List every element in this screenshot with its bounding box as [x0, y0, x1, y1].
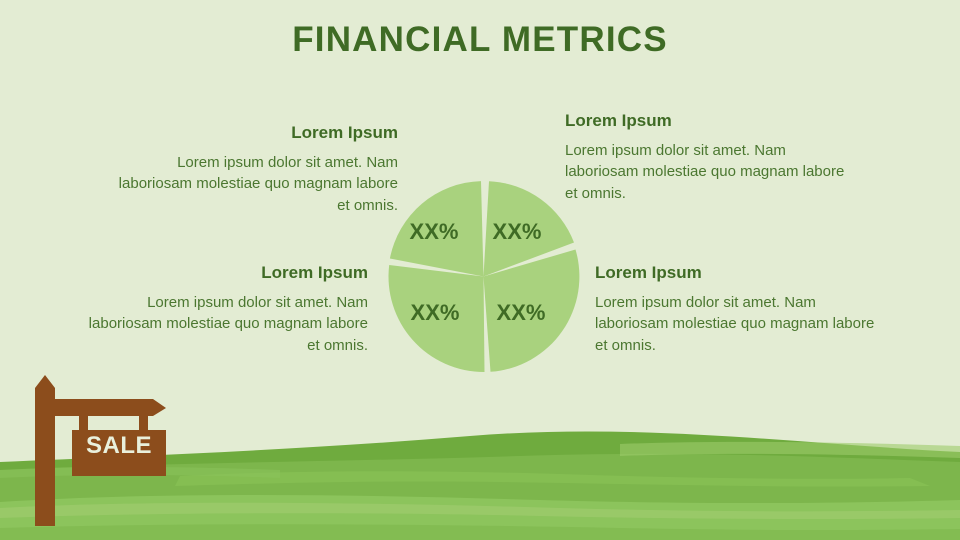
pie-slice-label-4: XX%	[411, 300, 460, 326]
pie-chart: XX% XX% XX% XX%	[383, 175, 587, 379]
slide-canvas: FINANCIAL METRICS XX% XX% XX% XX% Lorem …	[0, 0, 960, 540]
pie-slice-label-3: XX%	[497, 300, 546, 326]
callout-top-right-heading: Lorem Ipsum	[565, 112, 845, 131]
callout-top-left: Lorem Ipsum Lorem ipsum dolor sit amet. …	[118, 124, 398, 217]
page-title: FINANCIAL METRICS	[0, 20, 960, 60]
callout-bottom-left-body: Lorem ipsum dolor sit amet. Nam laborios…	[88, 292, 368, 357]
callout-bottom-right-heading: Lorem Ipsum	[595, 264, 875, 283]
sign-post	[35, 375, 55, 526]
grass-highlight-right	[620, 442, 960, 458]
pie-chart-svg	[383, 175, 587, 379]
callout-bottom-left: Lorem Ipsum Lorem ipsum dolor sit amet. …	[88, 264, 368, 357]
callout-bottom-right-body: Lorem ipsum dolor sit amet. Nam laborios…	[595, 292, 875, 357]
sign-strap-left	[79, 416, 88, 432]
pie-slices	[389, 181, 580, 372]
pie-slice-label-2: XX%	[493, 219, 542, 245]
sign-arrow	[55, 399, 166, 416]
pie-slice-label-1: XX%	[410, 219, 459, 245]
sign-strap-right	[139, 416, 148, 432]
sale-sign-label: SALE	[72, 432, 166, 460]
callout-top-left-body: Lorem ipsum dolor sit amet. Nam laborios…	[118, 152, 398, 217]
callout-top-right: Lorem Ipsum Lorem ipsum dolor sit amet. …	[565, 112, 845, 205]
callout-bottom-left-heading: Lorem Ipsum	[88, 264, 368, 283]
callout-top-right-body: Lorem ipsum dolor sit amet. Nam laborios…	[565, 140, 845, 205]
callout-bottom-right: Lorem Ipsum Lorem ipsum dolor sit amet. …	[595, 264, 875, 357]
callout-top-left-heading: Lorem Ipsum	[118, 124, 398, 143]
grass-streak-1	[175, 471, 930, 486]
